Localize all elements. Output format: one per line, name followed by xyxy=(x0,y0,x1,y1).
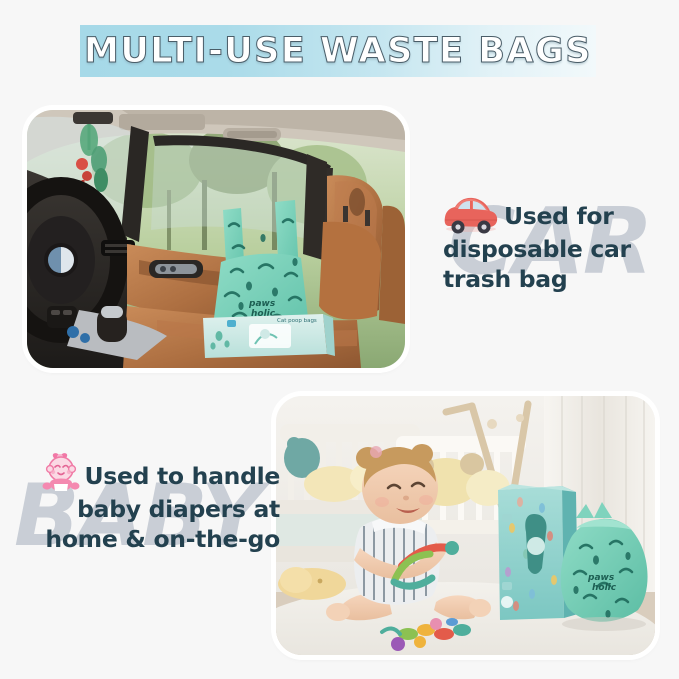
baby-nursery-illustration: paws holic xyxy=(276,396,655,655)
car-callout: Used for disposable car trash bag xyxy=(443,196,679,294)
svg-text:paws: paws xyxy=(587,573,615,583)
page-title: MULTI-USE WASTE BAGS xyxy=(84,31,592,71)
svg-text:paws: paws xyxy=(248,299,276,309)
svg-text:holic: holic xyxy=(592,583,617,593)
svg-text:Cat poop bags: Cat poop bags xyxy=(277,318,317,324)
car-callout-text: Used for disposable car trash bag xyxy=(443,196,679,294)
baby-nursery-photo: paws holic xyxy=(276,396,655,655)
baby-callout-line-2: baby diapers at xyxy=(77,495,280,523)
car-icon xyxy=(443,196,499,234)
car-interior-illustration: paws holic Cat poop bags xyxy=(27,110,405,368)
baby-callout-line-3: home & on-the-go xyxy=(45,525,280,553)
car-callout-line-2: disposable car xyxy=(443,235,631,263)
product-box: Cat poop bags xyxy=(203,314,335,358)
baby-callout: Used to handle baby diapers at home & on… xyxy=(18,450,280,554)
baby-callout-line-1: Used to handle xyxy=(84,462,280,490)
car-callout-line-3: trash bag xyxy=(443,265,567,293)
car-interior-photo: paws holic Cat poop bags xyxy=(27,110,405,368)
baby-icon xyxy=(40,450,82,494)
car-callout-line-1: Used for xyxy=(504,202,614,230)
baby-callout-text: Used to handle baby diapers at home & on… xyxy=(18,450,280,554)
title-banner: MULTI-USE WASTE BAGS xyxy=(80,25,596,77)
